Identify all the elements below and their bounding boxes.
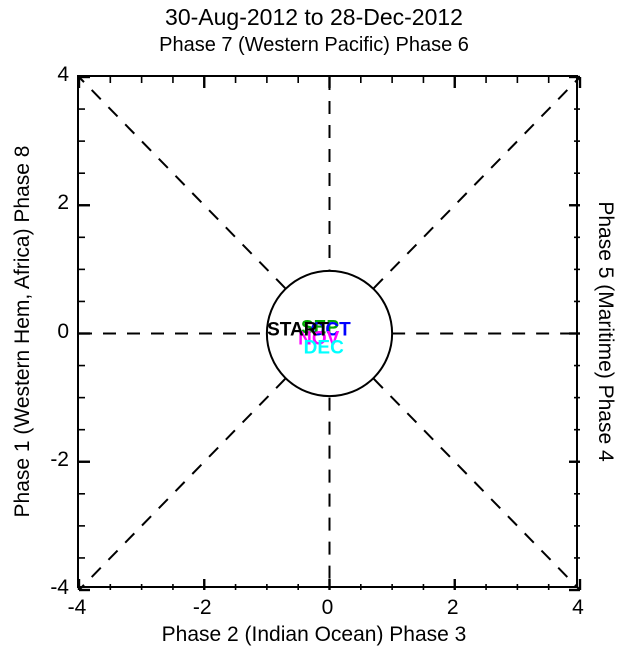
right-axis-title: Phase 5 (Maritime) Phase 4 (590, 75, 620, 588)
left-axis-title: Phase 1 (Western Hem, Africa) Phase 8 (8, 75, 38, 588)
x-tick-label: -2 (172, 596, 232, 620)
mjo-phase-diagram: 30-Aug-2012 to 28-Dec-2012 Phase 7 (West… (0, 0, 628, 656)
x-tick-label: 2 (423, 596, 483, 620)
x-tick-label: 4 (548, 596, 608, 620)
data-label-dec: DEC (304, 339, 344, 358)
page-title: 30-Aug-2012 to 28-Dec-2012 (0, 2, 628, 32)
x-tick-label: 0 (298, 596, 358, 620)
start-annotation: START (267, 321, 329, 340)
top-axis-title: Phase 7 (Western Pacific) Phase 6 (0, 32, 628, 58)
bottom-axis-title: Phase 2 (Indian Ocean) Phase 3 (0, 622, 628, 648)
